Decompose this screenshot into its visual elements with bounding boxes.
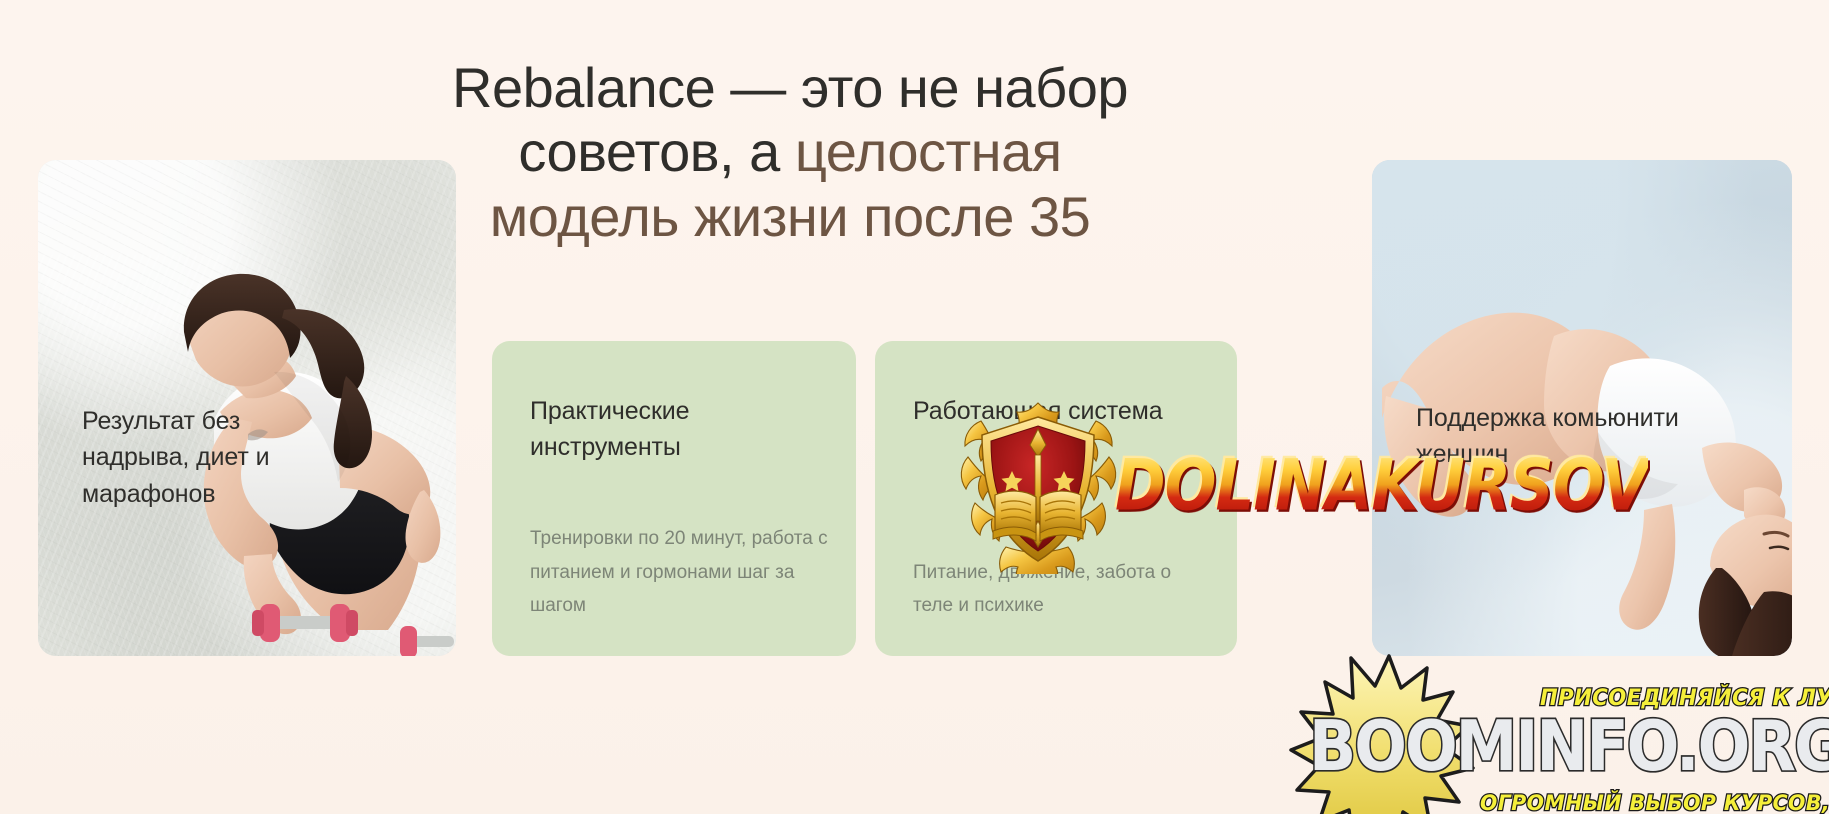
card-system[interactable]: Работающая система Питание, движение, за… <box>875 341 1237 656</box>
headline-line-3-accent: модель жизни после 35 <box>490 185 1091 248</box>
boominfo-tagline-bottom: ОГРОМНЫЙ ВЫБОР КУРСОВ, ТРЕНИНГОВ, КНИГ <box>1480 791 1829 814</box>
boominfo-tagline-top: ПРИСОЕДИНЯЙСЯ К ЛУЧШИМ! <box>1540 686 1829 711</box>
headline-line-2-accent: целостная <box>795 120 1062 183</box>
watermark-boominfo: ПРИСОЕДИНЯЙСЯ К ЛУЧШИМ! BOOMINFO.ORG ОГР… <box>1255 650 1829 814</box>
card-tools-body: Тренировки по 20 минут, работа с питание… <box>530 522 830 622</box>
boominfo-wordmark: BOOMINFO.ORG <box>1309 712 1829 781</box>
dumbbell-secondary-icon <box>400 626 454 656</box>
card-tools[interactable]: Практические инструменты Тренировки по 2… <box>492 341 856 656</box>
card-result[interactable]: Результат без надрыва, диет и марафонов <box>38 160 456 656</box>
card-community-title: Поддержка комьюнити женщин <box>1416 400 1736 473</box>
card-community[interactable]: Поддержка комьюнити женщин <box>1372 160 1792 656</box>
page-title: Rebalance — это не набор советов, а цело… <box>430 56 1150 251</box>
card-system-body: Питание, движение, забота о теле и психи… <box>913 556 1213 623</box>
headline-line-1: Rebalance — это не набор <box>452 56 1128 119</box>
card-system-title: Работающая система <box>913 393 1213 429</box>
dumbbell-icon <box>252 604 358 642</box>
comic-burst-icon <box>1255 650 1829 814</box>
headline-line-2-plain: советов, а <box>518 120 794 183</box>
page-root: Rebalance — это не набор советов, а цело… <box>0 0 1829 814</box>
card-result-title: Результат без надрыва, диет и марафонов <box>82 403 342 512</box>
card-tools-title: Практические инструменты <box>530 393 830 466</box>
